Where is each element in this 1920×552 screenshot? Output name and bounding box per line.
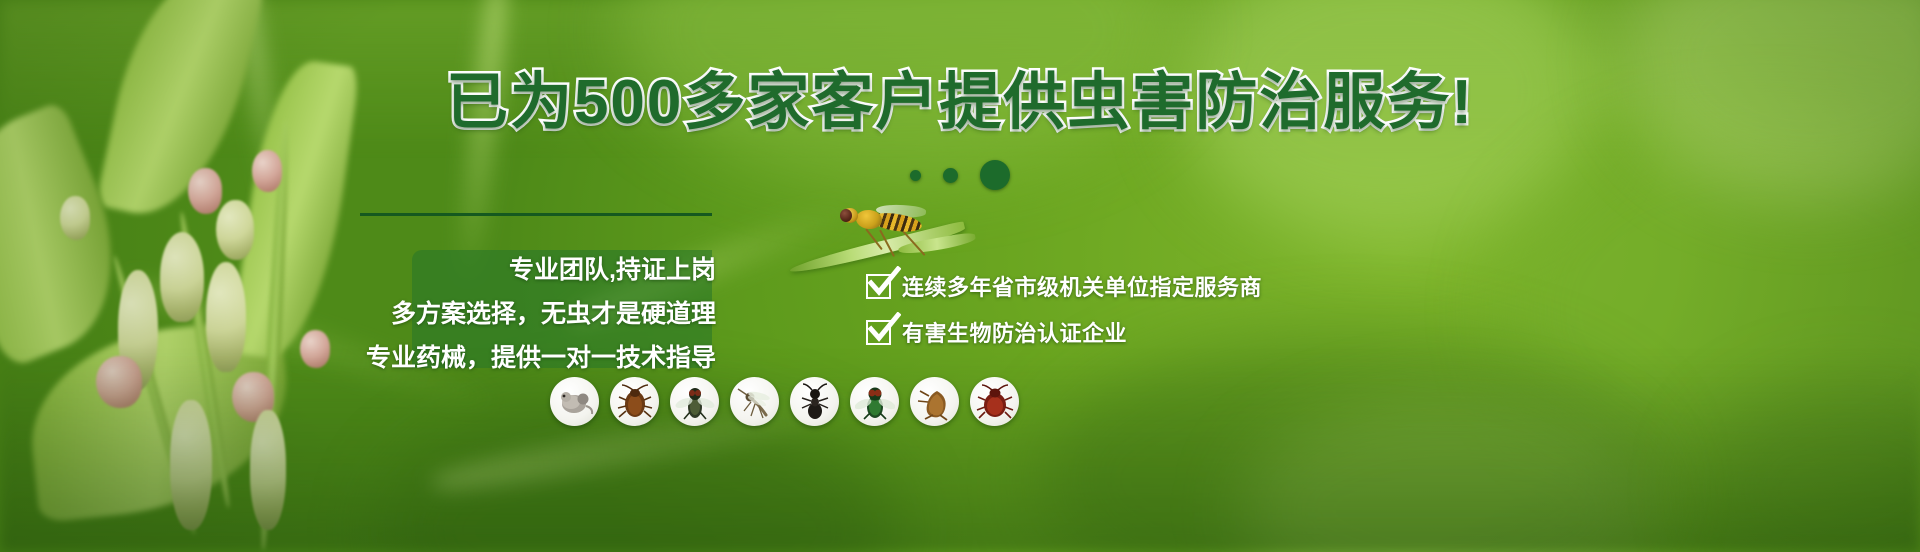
ant-icon[interactable]	[790, 377, 839, 426]
fly-eye	[840, 209, 852, 222]
promo-banner: 已为500多家客户提供虫害防治服务! 专业团队,持证上岗 多方案选择，无虫才是硬…	[0, 0, 1920, 552]
credentials-checklist: 连续多年省市级机关单位指定服务商 有害生物防治认证企业	[866, 272, 1262, 364]
checklist-item: 连续多年省市级机关单位指定服务商	[866, 272, 1262, 300]
decor-dot-medium	[943, 168, 958, 183]
decor-dot-large	[980, 160, 1010, 190]
divider-rule	[360, 213, 712, 216]
decor-dot-small	[910, 170, 921, 181]
blowfly-icon[interactable]	[850, 377, 899, 426]
checklist-item-label: 连续多年省市级机关单位指定服务商	[902, 270, 1262, 302]
feature-panel-text: 专业团队,持证上岗 多方案选择，无虫才是硬道理 专业药械，提供一对一技术指导	[340, 258, 716, 371]
cockroach-icon[interactable]	[610, 377, 659, 426]
mouse-icon[interactable]	[550, 377, 599, 426]
checklist-item-label: 有害生物防治认证企业	[902, 316, 1127, 348]
mosquito-icon[interactable]	[730, 377, 779, 426]
banner-headline-text: 已为500多家客户提供虫害防治服务!	[446, 68, 1474, 137]
pest-type-icons	[550, 377, 1019, 426]
checkbox-checked-icon	[866, 274, 891, 299]
checkbox-checked-icon	[866, 320, 891, 345]
decor-dots	[0, 160, 1920, 190]
feature-line-3: 专业药械，提供一对一技术指导	[340, 346, 716, 371]
fly-icon[interactable]	[670, 377, 719, 426]
bedbug-icon[interactable]	[970, 377, 1019, 426]
feature-line-2: 多方案选择，无虫才是硬道理	[340, 302, 716, 346]
feature-line-1: 专业团队,持证上岗	[340, 258, 716, 302]
banner-headline: 已为500多家客户提供虫害防治服务!	[0, 72, 1920, 134]
flea-icon[interactable]	[910, 377, 959, 426]
checklist-item: 有害生物防治认证企业	[866, 318, 1262, 346]
